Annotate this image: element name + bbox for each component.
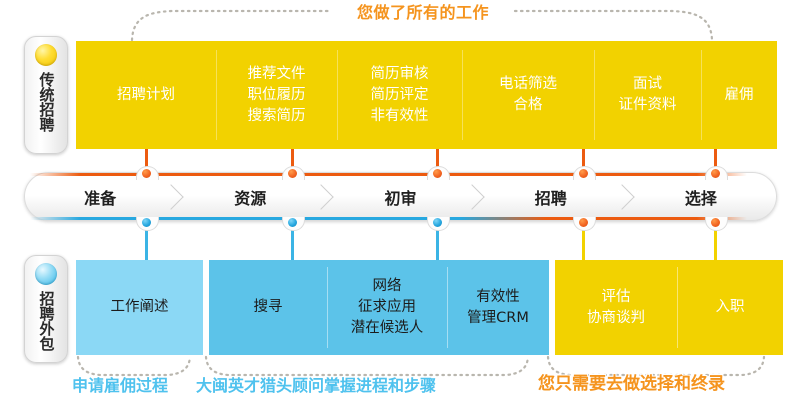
traditional-recruiting-band: 招聘计划推荐文件 职位履历 搜索简历简历审核 简历评定 非有效性电话筛选 合格面… — [76, 41, 777, 149]
timeline-step-4[interactable]: 招聘 — [476, 173, 626, 220]
knob-bottom-screen — [427, 217, 448, 230]
knob-bottom-recruit — [573, 217, 594, 230]
outsourced-panel-lightblue: 工作阐述 — [76, 260, 203, 355]
timeline-step-2[interactable]: 资源 — [175, 173, 325, 220]
side-tab-outsourced-label: 招聘外包 — [38, 289, 55, 353]
top-headline: 您做了所有的工作 — [333, 2, 513, 24]
traditional-cell-label: 电话筛选 合格 — [499, 74, 557, 116]
timeline-step-5[interactable]: 选择 — [626, 173, 776, 220]
knob-bottom-prepare — [136, 217, 157, 230]
outsourced-panel-yellow: 评估 协商谈判入职 — [555, 260, 783, 355]
infographic-root: 您做了所有的工作 传统招聘 招聘外包 招聘计划推荐文件 职位履历 搜索简历简历审… — [0, 0, 800, 409]
knob-bottom-select — [705, 217, 726, 230]
traditional-cell-label: 面试 证件资料 — [619, 74, 677, 116]
traditional-cell: 推荐文件 职位履历 搜索简历 — [216, 41, 337, 149]
traditional-cell: 简历审核 简历评定 非有效性 — [337, 41, 462, 149]
traditional-cell: 招聘计划 — [76, 41, 216, 149]
traditional-cell-label: 简历审核 简历评定 非有效性 — [371, 64, 429, 127]
knob-bottom-resource — [282, 217, 303, 230]
outsourced-panel-blue: 搜寻网络 征求应用 潜在候选人有效性 管理CRM — [209, 260, 549, 355]
stem-down-resource — [291, 228, 294, 261]
timeline-step-3[interactable]: 初审 — [325, 173, 475, 220]
outsourced-cell-label: 网络 征求应用 潜在候选人 — [351, 276, 424, 339]
caption-only-choose: 您只需要去做选择和终录 — [538, 374, 725, 394]
traditional-cell: 电话筛选 合格 — [462, 41, 594, 149]
traditional-cell-label: 推荐文件 职位履历 搜索简历 — [248, 64, 306, 127]
outsourced-cell: 搜寻 — [209, 260, 327, 355]
stem-down-screen — [436, 228, 439, 261]
knob-top-resource — [282, 166, 303, 179]
outsourced-cell-label: 有效性 管理CRM — [467, 287, 529, 329]
traditional-cell-label: 雇佣 — [725, 85, 754, 106]
brace-top-left — [132, 11, 330, 40]
brace-bottom-apply — [78, 357, 190, 375]
knob-top-recruit — [573, 166, 594, 179]
knob-top-prepare — [136, 166, 157, 179]
yellow-bulb-icon — [35, 44, 57, 66]
traditional-cell: 雇佣 — [701, 41, 777, 149]
stem-down-prepare — [145, 228, 148, 261]
outsourced-cell: 入职 — [677, 260, 783, 355]
knob-top-select — [705, 166, 726, 179]
brace-bottom-choose — [548, 357, 764, 375]
outsourced-cell-label: 入职 — [716, 297, 745, 318]
stem-down-select — [714, 228, 717, 261]
side-tab-outsourced[interactable]: 招聘外包 — [24, 255, 68, 363]
outsourced-cell-label: 工作阐述 — [111, 297, 169, 318]
brace-top-right — [515, 11, 712, 40]
knob-top-screen — [427, 166, 448, 179]
outsourced-cell: 网络 征求应用 潜在候选人 — [327, 260, 447, 355]
side-tab-traditional[interactable]: 传统招聘 — [24, 36, 68, 154]
traditional-cell-label: 招聘计划 — [117, 85, 175, 106]
outsourced-cell-label: 搜寻 — [254, 297, 283, 318]
outsourced-recruiting-band: 工作阐述搜寻网络 征求应用 潜在候选人有效性 管理CRM评估 协商谈判入职 — [76, 260, 777, 355]
outsourced-cell: 评估 协商谈判 — [555, 260, 677, 355]
stem-down-recruit — [582, 228, 585, 261]
outsourced-cell: 有效性 管理CRM — [447, 260, 549, 355]
caption-apply-process: 申请雇佣过程 — [72, 376, 168, 396]
brace-bottom-consultant — [206, 357, 528, 375]
timeline-step-1[interactable]: 准备 — [25, 173, 175, 220]
blue-bulb-icon — [35, 263, 57, 285]
outsourced-cell-label: 评估 协商谈判 — [587, 287, 645, 329]
outsourced-cell: 工作阐述 — [76, 260, 203, 355]
traditional-cell: 面试 证件资料 — [594, 41, 701, 149]
caption-consultant-process: 大闽英才猎头顾问掌握进程和步骤 — [196, 376, 436, 396]
side-tab-traditional-label: 传统招聘 — [38, 70, 55, 134]
